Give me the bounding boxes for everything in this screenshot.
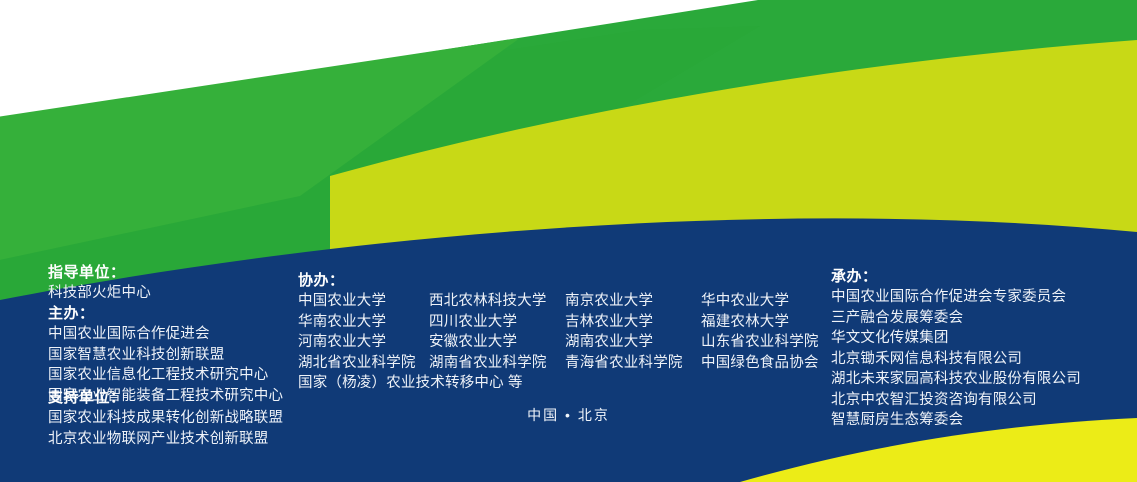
host-heading: 主办： xyxy=(48,303,283,324)
host-item: 中国农业国际合作促进会 xyxy=(48,324,283,345)
coorganizers-grid: 中国农业大学 西北农林科技大学 南京农业大学 华中农业大学 华南农业大学 四川农… xyxy=(298,291,819,373)
coorganizer-item: 西北农林科技大学 xyxy=(429,291,565,312)
coorganizer-item: 山东省农业科学院 xyxy=(701,332,819,353)
column-guidance: 指导单位： 科技部火炬中心 xyxy=(48,262,151,304)
undertaker-item: 湖北未来家园高科技农业股份有限公司 xyxy=(831,369,1081,390)
undertaker-heading: 承办： xyxy=(831,266,1081,287)
undertaker-item: 北京锄禾网信息科技有限公司 xyxy=(831,349,1081,370)
coorganizer-item: 安徽农业大学 xyxy=(429,332,565,353)
coorganizer-item: 青海省农业科学院 xyxy=(565,353,701,374)
host-item: 国家农业信息化工程技术研究中心 xyxy=(48,365,283,386)
undertaker-item: 三产融合发展筹委会 xyxy=(831,308,1081,329)
coorganizers-heading: 协办： xyxy=(298,270,819,291)
coorganizer-item: 湖南省农业科学院 xyxy=(429,353,565,374)
coorganizer-item: 华中农业大学 xyxy=(701,291,819,312)
undertaker-item: 中国农业国际合作促进会专家委员会 xyxy=(831,287,1081,308)
footer-location: 中国 • 北京 xyxy=(527,405,610,425)
coorganizer-item: 福建农林大学 xyxy=(701,312,819,333)
event-banner: 指导单位： 科技部火炬中心 主办： 中国农业国际合作促进会 国家智慧农业科技创新… xyxy=(0,0,1137,482)
undertaker-item: 华文文化传媒集团 xyxy=(831,328,1081,349)
organizer-columns: 指导单位： 科技部火炬中心 主办： 中国农业国际合作促进会 国家智慧农业科技创新… xyxy=(0,0,1137,482)
coorganizer-item: 河南农业大学 xyxy=(298,332,429,353)
coorganizer-item: 中国农业大学 xyxy=(298,291,429,312)
coorganizer-item: 中国绿色食品协会 xyxy=(701,353,819,374)
coorganizers-last-line: 国家（杨凌）农业技术转移中心 等 xyxy=(298,373,819,394)
coorganizer-item: 华南农业大学 xyxy=(298,312,429,333)
column-coorganizers: 协办： 中国农业大学 西北农林科技大学 南京农业大学 华中农业大学 华南农业大学… xyxy=(298,270,819,394)
coorganizer-item: 湖北省农业科学院 xyxy=(298,353,429,374)
footer-location-wrap: 中国 • 北京 xyxy=(0,405,1137,425)
support-item: 北京农业物联网产业技术创新联盟 xyxy=(48,429,283,450)
coorganizer-item: 湖南农业大学 xyxy=(565,332,701,353)
coorganizer-item: 吉林农业大学 xyxy=(565,312,701,333)
guidance-heading: 指导单位： xyxy=(48,262,151,283)
guidance-item: 科技部火炬中心 xyxy=(48,283,151,304)
coorganizer-item: 四川农业大学 xyxy=(429,312,565,333)
coorganizer-item: 南京农业大学 xyxy=(565,291,701,312)
host-item: 国家智慧农业科技创新联盟 xyxy=(48,345,283,366)
